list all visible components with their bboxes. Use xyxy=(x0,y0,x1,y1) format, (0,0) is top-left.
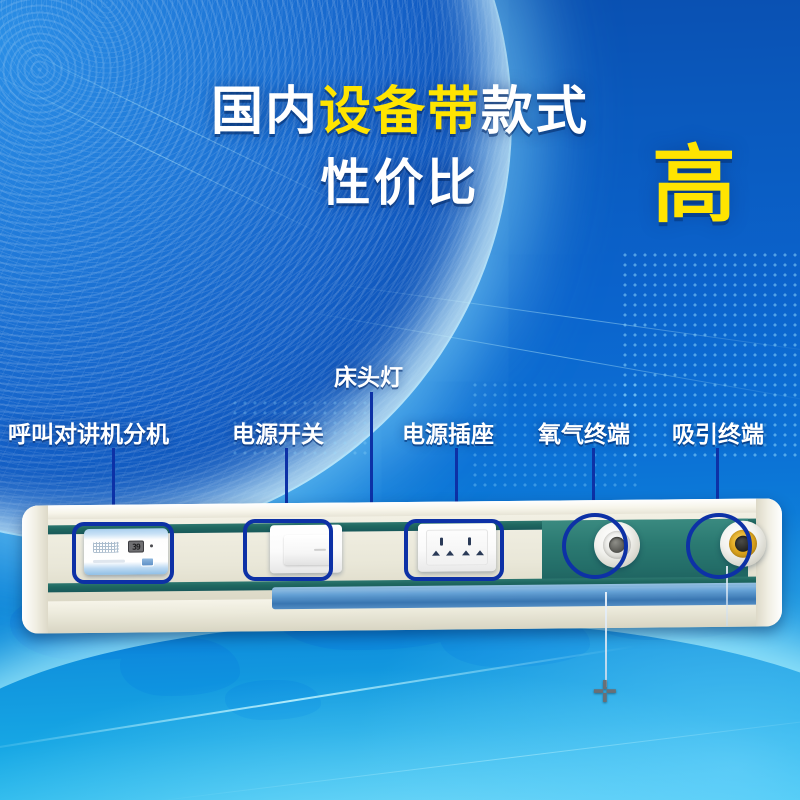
callout-label-oxygen-terminal: 氧气终端 xyxy=(538,415,630,449)
highlight-box-power-socket xyxy=(404,519,504,581)
poster-canvas: 国内设备带款式 性价比 高 呼叫对讲机分机 电源开关 床头灯 电源插座 氧气终端… xyxy=(0,0,800,800)
callout-label-power-socket: 电源插座 xyxy=(402,415,494,449)
pull-cord[interactable] xyxy=(605,592,607,687)
panel-end-cap-left xyxy=(22,505,48,633)
highlight-circle-suction xyxy=(686,513,752,579)
callout-label-suction-terminal: 吸引终端 xyxy=(672,415,764,449)
callout-label-nurse-call-intercom: 呼叫对讲机分机 xyxy=(8,415,169,449)
callout-label-bed-head-lamp: 床头灯 xyxy=(334,358,403,392)
panel-end-cap-right xyxy=(756,498,782,626)
callout-label-power-switch: 电源开关 xyxy=(232,415,324,449)
pull-cord-handle-icon[interactable]: ✛ xyxy=(590,678,620,708)
headline-accent-gao: 高 xyxy=(652,143,736,227)
highlight-box-power-switch xyxy=(243,519,333,581)
panel-accessory-rail xyxy=(272,583,762,610)
highlight-box-nurse-call xyxy=(72,522,174,584)
panel-top-edge xyxy=(22,498,782,519)
highlight-circle-oxygen xyxy=(562,513,628,579)
